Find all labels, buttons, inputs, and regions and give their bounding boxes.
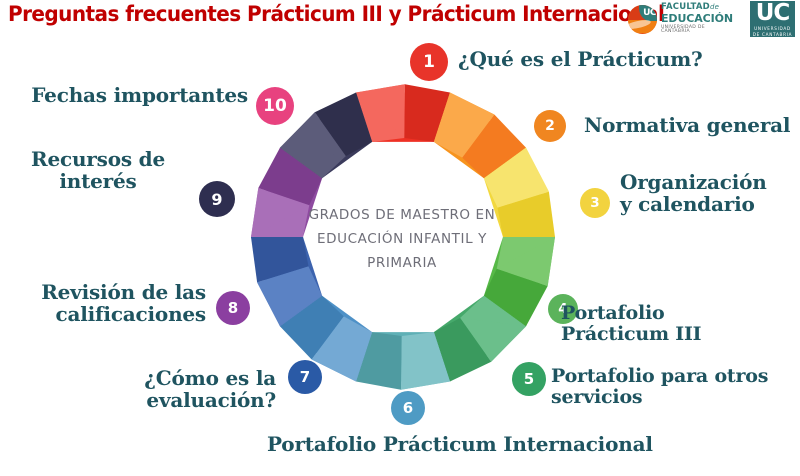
- uc-logo-subtitle: UNIVERSIDAD DE CANTABRIA: [750, 26, 795, 38]
- label-10-line-1: Fechas importantes: [8, 84, 248, 106]
- label-que-es-el-practicum[interactable]: ¿Qué es el Prácticum?: [458, 48, 703, 70]
- badge-2-number: 2: [545, 118, 555, 134]
- label-portafolio-practicum-iii[interactable]: Portafolio Prácticum III: [561, 303, 701, 346]
- label-portafolio-practicum-internacional[interactable]: Portafolio Prácticum Internacional: [267, 433, 653, 455]
- emblem-uc-text: UC: [643, 8, 656, 18]
- badge-2[interactable]: 2: [534, 110, 566, 142]
- faculty-logo-line2: EDUCACIÓN: [661, 13, 733, 24]
- badge-9-number: 9: [211, 190, 222, 209]
- label-normativa-general[interactable]: Normativa general: [584, 114, 790, 136]
- badge-1[interactable]: 1: [410, 43, 448, 81]
- badge-7[interactable]: 7: [288, 360, 322, 394]
- badge-6[interactable]: 6: [391, 391, 425, 425]
- label-recursos-de-interes[interactable]: Recursos de interés: [8, 148, 188, 193]
- label-revision-de-las-calificaciones[interactable]: Revisión de las calificaciones: [8, 281, 206, 326]
- badge-6-number: 6: [403, 399, 413, 417]
- label-5-line-2: servicios: [551, 387, 768, 408]
- center-line-2: EDUCACIÓN INFANTIL Y: [302, 227, 502, 251]
- universidad-cantabria-logo: UC UNIVERSIDAD DE CANTABRIA: [750, 1, 795, 37]
- label-5-line-1: Portafolio para otros: [551, 366, 768, 387]
- page-title: Preguntas frecuentes Prácticum III y Prá…: [8, 2, 566, 27]
- wheel-center-text: GRADOS DE MAESTRO EN EDUCACIÓN INFANTIL …: [302, 203, 502, 275]
- badge-10[interactable]: 10: [256, 87, 294, 125]
- badge-10-number: 10: [263, 96, 287, 116]
- badge-5-number: 5: [524, 370, 534, 388]
- label-6-line-1: Portafolio Prácticum Internacional: [267, 433, 653, 455]
- center-line-1: GRADOS DE MAESTRO EN: [302, 203, 502, 227]
- label-9-line-2: interés: [8, 170, 188, 192]
- faculty-logo-line1: FACULTAD: [661, 2, 710, 12]
- label-2-line-1: Normativa general: [584, 114, 790, 136]
- faculty-logo-de: de: [710, 3, 719, 11]
- label-8-line-2: calificaciones: [8, 303, 206, 325]
- label-8-line-1: Revisión de las: [8, 281, 206, 303]
- label-3-line-2: y calendario: [620, 193, 767, 215]
- label-fechas-importantes[interactable]: Fechas importantes: [8, 84, 248, 106]
- uc-logo-mark: UC: [750, 1, 795, 26]
- badge-8-number: 8: [228, 299, 238, 317]
- label-1-line-1: ¿Qué es el Prácticum?: [458, 48, 703, 70]
- label-9-line-1: Recursos de: [8, 148, 188, 170]
- facultad-educacion-logo: UC FACULTADde EDUCACIÓN UNIVERSIDAD DE C…: [628, 4, 732, 34]
- faculty-logo-line3: UNIVERSIDAD DE CANTABRIA: [661, 26, 733, 35]
- label-4-line-2: Prácticum III: [561, 324, 701, 345]
- label-organizacion-y-calendario[interactable]: Organización y calendario: [620, 171, 767, 216]
- label-7-line-1: ¿Cómo es la evaluación?: [8, 367, 276, 412]
- label-portafolio-para-otros-servicios[interactable]: Portafolio para otros servicios: [551, 366, 768, 409]
- badge-3-number: 3: [590, 195, 599, 211]
- badge-8[interactable]: 8: [216, 291, 250, 325]
- label-como-es-la-evaluacion[interactable]: ¿Cómo es la evaluación?: [8, 367, 276, 412]
- badge-7-number: 7: [300, 368, 310, 386]
- label-3-line-1: Organización: [620, 171, 767, 193]
- badge-5[interactable]: 5: [512, 362, 546, 396]
- uc-emblem-icon: UC: [628, 5, 657, 34]
- badge-9[interactable]: 9: [199, 181, 235, 217]
- infographic-page: Preguntas frecuentes Prácticum III y Prá…: [0, 0, 800, 476]
- badge-3[interactable]: 3: [580, 188, 610, 218]
- badge-1-number: 1: [423, 52, 435, 72]
- center-line-3: PRIMARIA: [302, 251, 502, 275]
- label-4-line-1: Portafolio: [561, 303, 701, 324]
